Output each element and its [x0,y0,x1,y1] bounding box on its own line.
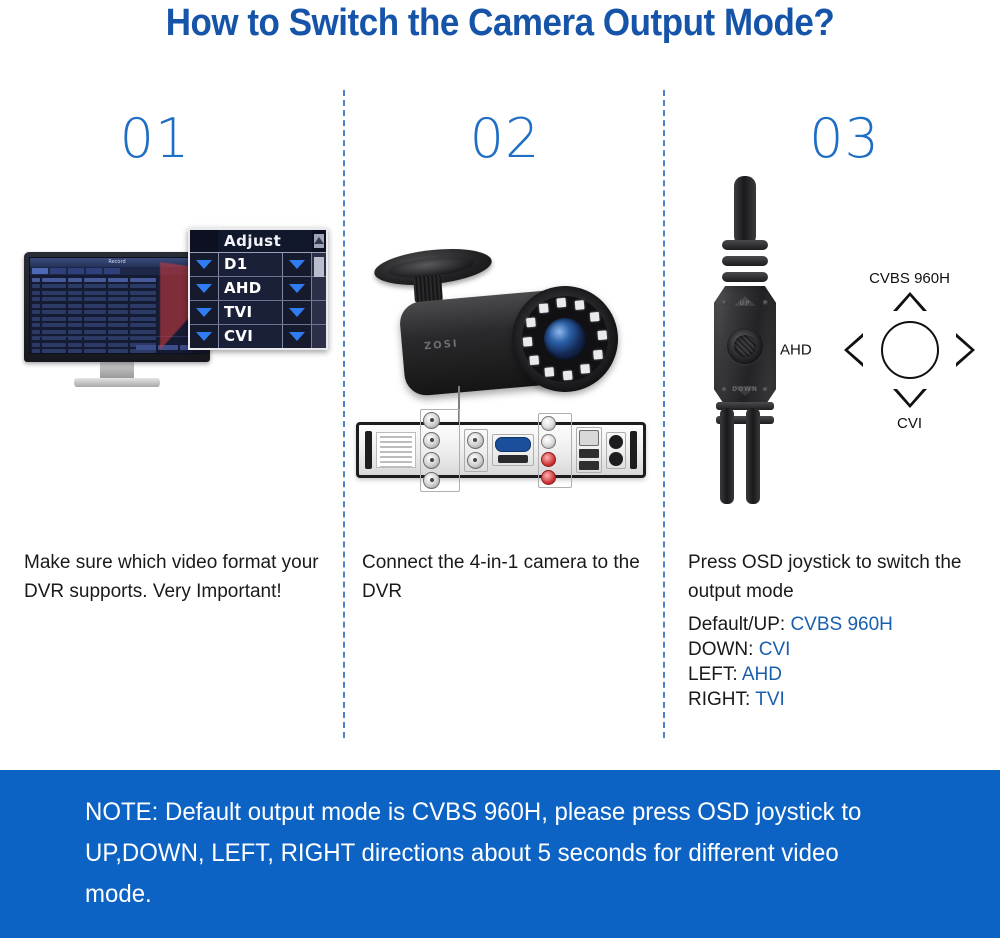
ir-led [593,350,603,360]
bnc-connector [423,432,440,449]
adjust-option-label: TVI [218,301,283,324]
direction-label-up: CVBS 960H [869,270,950,287]
joystick-center-circle [881,321,939,379]
osd-joystick-textured-cap[interactable] [734,335,756,357]
step-column-2: 02 ZOSI [350,90,660,740]
screen-tab [68,268,84,274]
dropdown-right-arrow-icon[interactable] [283,284,311,293]
bnc-connector [467,452,484,469]
bullet-camera: ZOSI [362,244,652,424]
antenna-connector [609,435,623,449]
screen-tab [86,268,102,274]
ir-led [523,337,533,347]
mode-line: Default/UP: CVBS 960H [688,612,988,637]
dropdown-right-arrow-icon[interactable] [283,332,311,341]
dropdown-right-arrow-icon[interactable] [283,260,311,269]
monitor-stand-neck [100,362,134,378]
bnc-connector [423,412,440,429]
ir-led [526,318,536,328]
step-3-caption: Press OSD joystick to switch the output … [688,548,988,606]
adjust-menu-title: Adjust [218,232,312,250]
arrow-right-icon [956,333,975,367]
step-2-caption: Connect the 4-in-1 camera to the DVR [362,548,652,606]
adjust-option-row[interactable]: AHD [190,277,326,301]
osd-screw [722,387,727,392]
table-cell [42,278,66,282]
screen-button [136,345,156,350]
camera-brand-label: ZOSI [424,338,460,352]
adjust-option-row[interactable]: TVI [190,301,326,325]
mode-key: Default/UP: [688,614,790,635]
adjust-menu-panel: Adjust D1 AHD TVI [188,228,328,350]
step-number-3: 03 [692,112,997,166]
adjust-scrollbar-track[interactable] [311,277,326,300]
mode-key: DOWN: [688,639,759,660]
step-number-2: 02 [350,112,660,166]
adjust-header-pad [190,230,218,252]
adjust-option-row[interactable]: CVI [190,325,326,348]
ir-led [575,300,585,310]
rca-audio-jack [541,434,556,449]
scroll-up-button[interactable] [314,234,324,248]
bnc-video-in-group [420,409,459,492]
rca-audio-jack [541,416,556,431]
column-divider-2 [663,90,665,738]
ir-led-ring [518,292,611,385]
note-banner: NOTE: Default output mode is CVBS 960H, … [0,770,1000,938]
ir-led [597,330,607,340]
arrow-left-icon [844,333,863,367]
ir-led [580,364,590,374]
bnc-video-out-group [464,429,488,472]
screen-tab [50,268,66,274]
step-1-caption: Make sure which video format your DVR su… [24,548,334,606]
adjust-scrollbar-track[interactable] [311,325,326,348]
mode-value: CVI [759,639,791,660]
osd-joystick-button[interactable] [727,328,763,364]
rca-audio-jack [541,470,556,485]
step-1-illustration: Record [10,166,340,496]
osd-strain-relief-rib [722,272,768,282]
table-cell [130,278,156,282]
osd-down-label: DOWN [732,386,758,393]
adjust-scrollbar-track[interactable] [311,301,326,324]
rca-audio-jack [541,452,556,467]
output-mode-list: Default/UP: CVBS 960H DOWN: CVI LEFT: AH… [688,612,988,712]
table-cell [84,278,106,282]
step-3-illustration: UP DOWN CVBS 960H AHD TVI [672,166,997,496]
bnc-connector [423,472,440,489]
adjust-scrollbar[interactable] [311,253,326,276]
dropdown-left-arrow-icon[interactable] [190,260,218,269]
screen-tab [32,268,48,274]
vga-port [495,437,531,452]
audio-rca-group [538,413,572,488]
osd-screw [763,300,768,305]
adjust-option-label: AHD [218,277,283,300]
usb-port [579,449,599,458]
osd-screw [763,387,768,392]
network-usb-group [576,427,602,473]
screen-tab [104,268,120,274]
mode-line: RIGHT: TVI [688,687,988,712]
video-output-group [492,434,534,466]
mode-value: TVI [755,689,785,710]
mode-line: LEFT: AHD [688,662,988,687]
dvr-warning-label [376,432,416,468]
table-cell [108,278,128,282]
ethernet-port [579,430,599,446]
osd-screw [722,300,727,305]
adjust-option-row[interactable]: D1 [190,253,326,277]
step-number-1: 01 [0,112,340,166]
adjust-option-label: CVI [218,325,283,348]
osd-joystick-connector: UP DOWN CVBS 960H AHD TVI [672,234,997,504]
step-column-1: 01 Record [10,90,340,740]
camera-mount-neck [413,275,443,303]
ir-led [590,312,600,322]
mode-key: LEFT: [688,664,742,685]
page-title: How to Switch the Camera Output Mode? [40,2,960,45]
power-jack [609,452,623,466]
ir-led [529,355,539,365]
camera-lens [542,316,588,362]
osd-cable-lower [746,408,760,504]
arrow-up-icon [893,292,927,311]
dropdown-left-arrow-icon[interactable] [190,284,218,293]
hdmi-port [498,455,528,463]
monitor-stand-base [74,378,160,387]
step-3-caption-block: Press OSD joystick to switch the output … [688,548,988,712]
osd-strain-relief-rib [722,240,768,250]
mode-value: AHD [742,664,782,685]
arrow-down-icon [893,389,927,408]
osd-strain-relief-rib [722,256,768,266]
dvr-side-bracket [365,431,372,469]
bnc-connector [467,432,484,449]
ir-led [544,367,554,377]
ir-led [563,371,573,381]
mode-value: CVBS 960H [790,614,892,635]
dropdown-right-arrow-icon[interactable] [283,308,311,317]
dropdown-left-arrow-icon[interactable] [190,308,218,317]
bnc-connector [423,452,440,469]
table-cell [68,278,82,282]
osd-up-label: UP [739,300,750,307]
column-divider-1 [343,90,345,738]
usb-port [579,461,599,470]
step-2-illustration: ZOSI [350,166,660,496]
joystick-direction-diagram: CVBS 960H AHD TVI CVI [822,270,997,430]
ir-led [556,298,566,308]
note-text: NOTE: Default output mode is CVBS 960H, … [85,792,911,915]
mode-line: DOWN: CVI [688,637,988,662]
dvr-rear-panel [356,422,646,478]
adjust-menu-header: Adjust [190,230,326,253]
adjust-option-label: D1 [218,253,283,276]
table-cell [32,278,40,282]
dvr-side-bracket [630,431,637,469]
ir-led [539,303,549,313]
osd-joystick-housing: UP DOWN [714,286,776,406]
dropdown-left-arrow-icon[interactable] [190,332,218,341]
osd-cable-lower [720,408,734,504]
mode-key: RIGHT: [688,689,755,710]
osd-cable-upper [734,176,756,246]
power-group [606,432,626,469]
direction-label-down: CVI [897,415,922,432]
direction-label-left: AHD [780,342,812,359]
